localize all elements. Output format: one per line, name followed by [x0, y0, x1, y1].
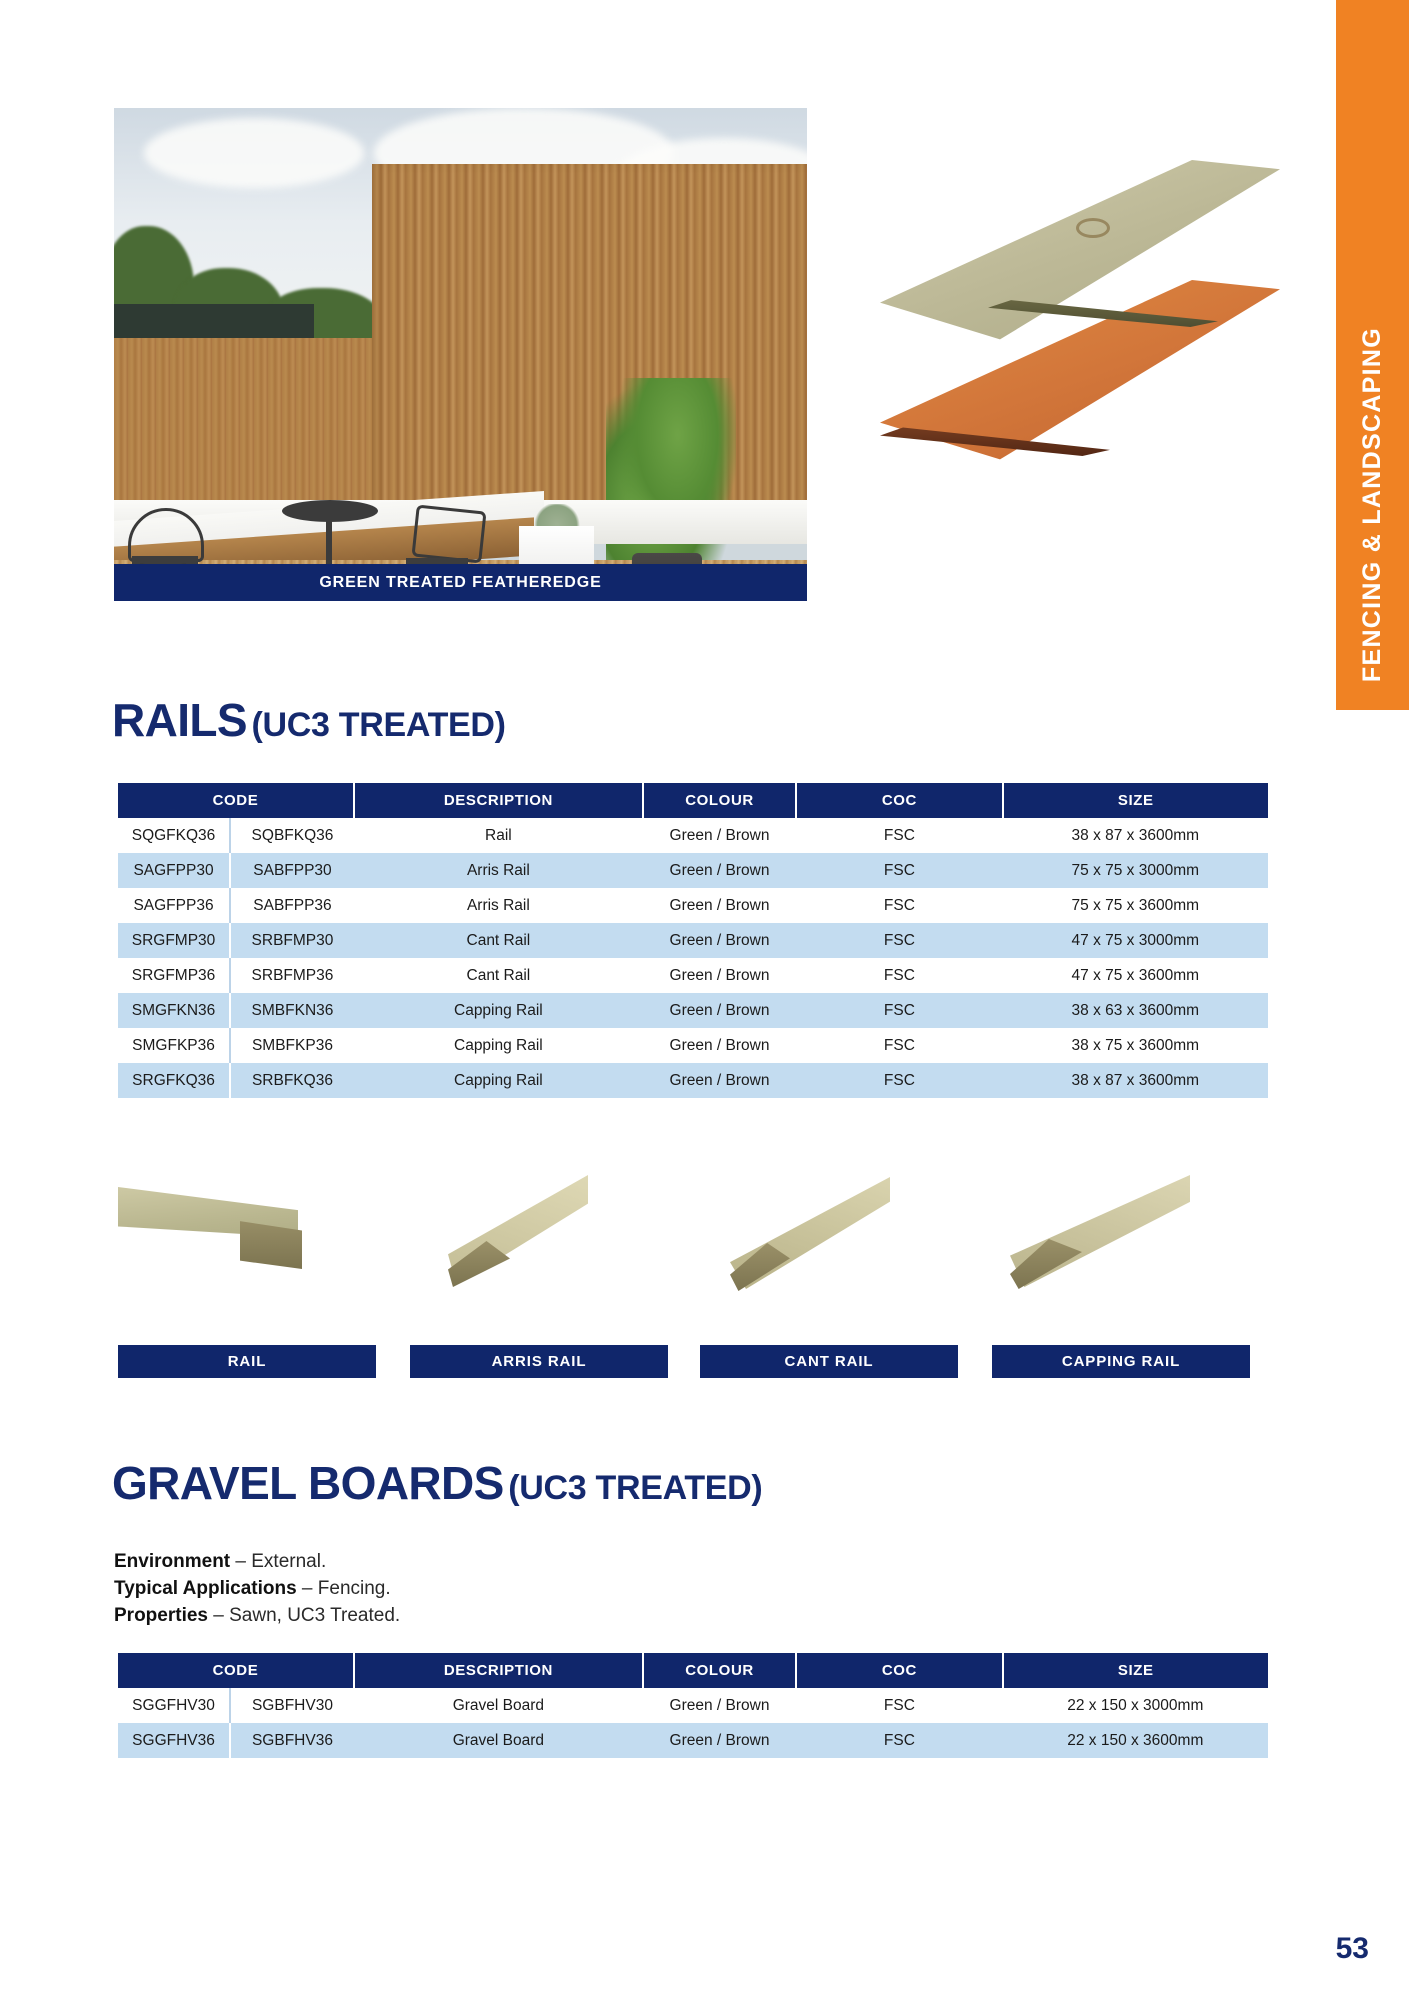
cell-code-a: SRGFKQ36 — [118, 1063, 230, 1098]
table-row: SGGFHV30SGBFHV30Gravel BoardGreen / Brow… — [118, 1688, 1268, 1723]
rails-title-sub: (UC3 TREATED) — [251, 706, 505, 744]
gravel-title-sub: (UC3 TREATED) — [508, 1469, 762, 1507]
cell-size: 47 x 75 x 3000mm — [1003, 923, 1268, 958]
cell-code-a: SQGFKQ36 — [118, 818, 230, 853]
cell-size: 38 x 75 x 3600mm — [1003, 1028, 1268, 1063]
cell-colour: Green / Brown — [643, 923, 796, 958]
cell-size: 38 x 63 x 3600mm — [1003, 993, 1268, 1028]
product-image-rail — [118, 1165, 376, 1340]
cell-coc: FSC — [796, 818, 1002, 853]
cell-size: 47 x 75 x 3600mm — [1003, 958, 1268, 993]
cell-description: Capping Rail — [354, 1063, 643, 1098]
property-value: – External. — [230, 1551, 326, 1572]
cell-colour: Green / Brown — [643, 993, 796, 1028]
cell-size: 75 x 75 x 3000mm — [1003, 853, 1268, 888]
column-header-code: CODE — [118, 783, 354, 818]
column-header-code: CODE — [118, 1653, 354, 1688]
column-header-coc: COC — [796, 1653, 1002, 1688]
cell-description: Gravel Board — [354, 1688, 643, 1723]
cell-description: Rail — [354, 818, 643, 853]
cell-colour: Green / Brown — [643, 1688, 796, 1723]
cell-colour: Green / Brown — [643, 1063, 796, 1098]
plant-pot — [632, 553, 702, 564]
column-header-colour: COLOUR — [643, 783, 796, 818]
cell-code-a: SMGFKP36 — [118, 1028, 230, 1063]
table-row: SMGFKP36SMBFKP36Capping RailGreen / Brow… — [118, 1028, 1268, 1063]
product-caption-arris-rail: ARRIS RAIL — [410, 1345, 668, 1378]
cell-description: Arris Rail — [354, 853, 643, 888]
column-header-description: DESCRIPTION — [354, 783, 643, 818]
page-title-rails: RAILS (UC3 TREATED) — [112, 693, 506, 747]
bistro-chair — [411, 504, 486, 563]
table-row: SAGFPP30SABFPP30Arris RailGreen / BrownF… — [118, 853, 1268, 888]
column-header-colour: COLOUR — [643, 1653, 796, 1688]
product-image-capping-rail — [992, 1165, 1250, 1340]
white-planter — [519, 526, 594, 564]
cell-code-b: SGBFHV30 — [230, 1688, 354, 1723]
cell-size: 38 x 87 x 3600mm — [1003, 818, 1268, 853]
hero-photo-garden-fence — [114, 108, 807, 564]
cell-code-b: SABFPP30 — [230, 853, 354, 888]
cell-code-a: SGGFHV36 — [118, 1723, 230, 1758]
cell-code-b: SRBFMP30 — [230, 923, 354, 958]
hero-caption-text: GREEN TREATED FEATHEREDGE — [319, 574, 601, 592]
cell-size: 22 x 150 x 3000mm — [1003, 1688, 1268, 1723]
cell-code-b: SRBFKQ36 — [230, 1063, 354, 1098]
page-title-gravel-boards: GRAVEL BOARDS (UC3 TREATED) — [112, 1456, 762, 1510]
cell-coc: FSC — [796, 993, 1002, 1028]
cell-coc: FSC — [796, 853, 1002, 888]
cell-code-a: SMGFKN36 — [118, 993, 230, 1028]
column-header-size: SIZE — [1003, 1653, 1268, 1688]
cloud — [144, 118, 364, 188]
product-image-arris-rail — [410, 1165, 668, 1340]
column-header-coc: COC — [796, 783, 1002, 818]
page-number: 53 — [1336, 1932, 1369, 1966]
column-header-description: DESCRIPTION — [354, 1653, 643, 1688]
gravel-table-header: CODE DESCRIPTION COLOUR COC SIZE — [118, 1653, 1268, 1688]
featheredge-board-photo — [880, 150, 1300, 520]
gravel-title-main: GRAVEL BOARDS — [112, 1457, 504, 1509]
cell-code-a: SAGFPP30 — [118, 853, 230, 888]
product-image-cant-rail — [700, 1165, 958, 1340]
table-row: SRGFMP36SRBFMP36Cant RailGreen / BrownFS… — [118, 958, 1268, 993]
product-caption-text: CAPPING RAIL — [1062, 1353, 1180, 1370]
property-value: – Fencing. — [297, 1578, 391, 1599]
hero-caption-bar: GREEN TREATED FEATHEREDGE — [114, 564, 807, 601]
fence-panel-low — [114, 338, 384, 523]
cell-code-a: SRGFMP30 — [118, 923, 230, 958]
property-typical-applications: Typical Applications – Fencing. — [114, 1575, 400, 1602]
rails-table: CODE DESCRIPTION COLOUR COC SIZE SQGFKQ3… — [118, 783, 1268, 1098]
side-tab-label: FENCING & LANDSCAPING — [1358, 327, 1387, 682]
property-label: Properties — [114, 1605, 208, 1626]
cell-coc: FSC — [796, 923, 1002, 958]
cell-colour: Green / Brown — [643, 1723, 796, 1758]
property-value: – Sawn, UC3 Treated. — [208, 1605, 400, 1626]
cell-code-b: SQBFKQ36 — [230, 818, 354, 853]
cell-description: Cant Rail — [354, 923, 643, 958]
table-row: SRGFKQ36SRBFKQ36Capping RailGreen / Brow… — [118, 1063, 1268, 1098]
table-header-row: CODE DESCRIPTION COLOUR COC SIZE — [118, 783, 1268, 818]
column-header-size: SIZE — [1003, 783, 1268, 818]
gravel-boards-properties: Environment – External. Typical Applicat… — [114, 1548, 400, 1629]
cell-code-b: SRBFMP36 — [230, 958, 354, 993]
fence-panel-high — [372, 164, 807, 534]
cell-code-b: SABFPP36 — [230, 888, 354, 923]
cell-coc: FSC — [796, 1028, 1002, 1063]
cell-size: 38 x 87 x 3600mm — [1003, 1063, 1268, 1098]
cell-colour: Green / Brown — [643, 1028, 796, 1063]
rails-table-header: CODE DESCRIPTION COLOUR COC SIZE — [118, 783, 1268, 818]
product-caption-rail: RAIL — [118, 1345, 376, 1378]
cell-code-b: SGBFHV36 — [230, 1723, 354, 1758]
cell-coc: FSC — [796, 1063, 1002, 1098]
cell-coc: FSC — [796, 888, 1002, 923]
cell-coc: FSC — [796, 1688, 1002, 1723]
product-caption-capping-rail: CAPPING RAIL — [992, 1345, 1250, 1378]
cell-code-a: SGGFHV30 — [118, 1688, 230, 1723]
table-row: SGGFHV36SGBFHV36Gravel BoardGreen / Brow… — [118, 1723, 1268, 1758]
cell-description: Capping Rail — [354, 993, 643, 1028]
product-caption-cant-rail: CANT RAIL — [700, 1345, 958, 1378]
cell-size: 75 x 75 x 3600mm — [1003, 888, 1268, 923]
cell-code-b: SMBFKN36 — [230, 993, 354, 1028]
cell-colour: Green / Brown — [643, 888, 796, 923]
rails-table-body: SQGFKQ36SQBFKQ36RailGreen / BrownFSC38 x… — [118, 818, 1268, 1098]
bistro-table-stem — [326, 518, 332, 564]
table-row: SQGFKQ36SQBFKQ36RailGreen / BrownFSC38 x… — [118, 818, 1268, 853]
table-header-row: CODE DESCRIPTION COLOUR COC SIZE — [118, 1653, 1268, 1688]
cell-colour: Green / Brown — [643, 818, 796, 853]
cell-colour: Green / Brown — [643, 958, 796, 993]
cell-description: Arris Rail — [354, 888, 643, 923]
table-row: SAGFPP36SABFPP36Arris RailGreen / BrownF… — [118, 888, 1268, 923]
table-row: SRGFMP30SRBFMP30Cant RailGreen / BrownFS… — [118, 923, 1268, 958]
property-properties: Properties – Sawn, UC3 Treated. — [114, 1602, 400, 1629]
gravel-table-body: SGGFHV30SGBFHV30Gravel BoardGreen / Brow… — [118, 1688, 1268, 1758]
rails-title-main: RAILS — [112, 694, 247, 746]
cell-description: Capping Rail — [354, 1028, 643, 1063]
wood-knot — [1076, 218, 1110, 238]
cell-description: Gravel Board — [354, 1723, 643, 1758]
property-label: Environment — [114, 1551, 230, 1572]
table-row: SMGFKN36SMBFKN36Capping RailGreen / Brow… — [118, 993, 1268, 1028]
product-caption-text: CANT RAIL — [785, 1353, 874, 1370]
product-caption-text: RAIL — [228, 1353, 267, 1370]
property-environment: Environment – External. — [114, 1548, 400, 1575]
cell-code-a: SAGFPP36 — [118, 888, 230, 923]
cell-code-b: SMBFKP36 — [230, 1028, 354, 1063]
catalog-page: FENCING & LANDSCAPING GREEN TREATED — [0, 0, 1409, 2000]
gravel-boards-table: CODE DESCRIPTION COLOUR COC SIZE SGGFHV3… — [118, 1653, 1268, 1758]
product-caption-text: ARRIS RAIL — [492, 1353, 587, 1370]
property-label: Typical Applications — [114, 1578, 297, 1599]
cell-size: 22 x 150 x 3600mm — [1003, 1723, 1268, 1758]
cell-coc: FSC — [796, 958, 1002, 993]
cell-code-a: SRGFMP36 — [118, 958, 230, 993]
cell-description: Cant Rail — [354, 958, 643, 993]
section-side-tab: FENCING & LANDSCAPING — [1336, 0, 1409, 710]
cell-coc: FSC — [796, 1723, 1002, 1758]
cell-colour: Green / Brown — [643, 853, 796, 888]
